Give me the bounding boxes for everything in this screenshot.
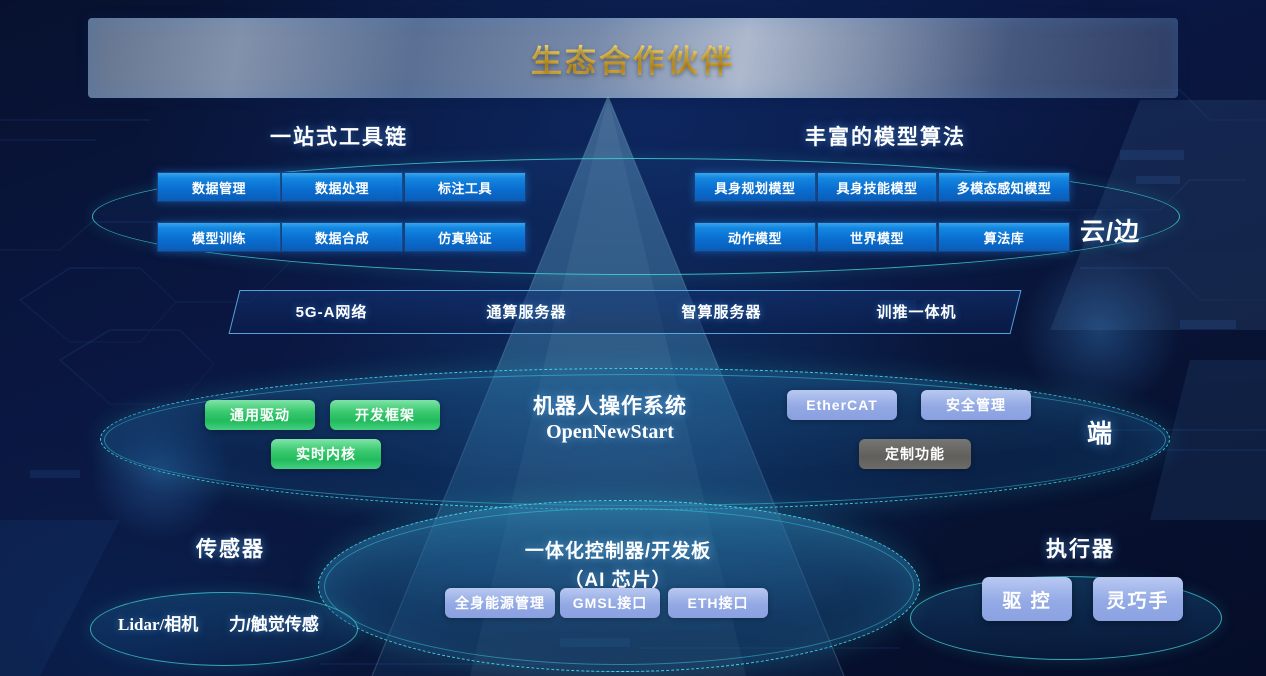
sensors-heading: 传感器 (196, 533, 265, 563)
actuators-heading: 执行器 (1046, 533, 1115, 563)
chip-model-1[interactable]: 具身规划模型 (694, 172, 816, 202)
chip-controller-1[interactable]: 全身能源管理 (445, 588, 555, 618)
models-heading: 丰富的模型算法 (805, 121, 966, 151)
chip-toolchain-6[interactable]: 仿真验证 (404, 222, 526, 252)
cloud-edge-label: 云/边 (1080, 212, 1140, 248)
infra-item-2[interactable]: 通算服务器 (429, 301, 624, 322)
edge-label: 端 (1087, 414, 1113, 450)
sensor-item-1[interactable]: Lidar/相机 (118, 610, 198, 635)
chip-model-6[interactable]: 算法库 (938, 222, 1070, 252)
chip-model-4[interactable]: 动作模型 (694, 222, 816, 252)
chip-actuator-1[interactable]: 驱 控 (982, 577, 1072, 621)
chip-toolchain-1[interactable]: 数据管理 (157, 172, 281, 202)
chip-model-2[interactable]: 具身技能模型 (817, 172, 937, 202)
banner-title: 生态合作伙伴 (531, 36, 735, 81)
os-title-block: 机器人操作系统 OpenNewStart (470, 390, 750, 444)
chip-controller-3[interactable]: ETH接口 (668, 588, 768, 618)
os-title-en: OpenNewStart (470, 421, 750, 444)
controller-title-block: 一体化控制器/开发板 （AI 芯片） (418, 536, 818, 592)
chip-toolchain-3[interactable]: 标注工具 (404, 172, 526, 202)
infra-item-4[interactable]: 训推一体机 (819, 301, 1014, 322)
chip-toolchain-4[interactable]: 模型训练 (157, 222, 281, 252)
infra-item-1[interactable]: 5G-A网络 (234, 301, 429, 322)
chip-model-5[interactable]: 世界模型 (817, 222, 937, 252)
chip-controller-2[interactable]: GMSL接口 (560, 588, 660, 618)
architecture-diagram: 生态合作伙伴 一站式工具链 丰富的模型算法 数据管理 数据处理 标注工具 模型训… (0, 0, 1266, 676)
sensor-item-2[interactable]: 力/触觉传感 (229, 610, 319, 635)
controller-title-line1: 一体化控制器/开发板 (418, 536, 818, 563)
os-title-cn: 机器人操作系统 (470, 390, 750, 420)
chip-os-safety[interactable]: 安全管理 (921, 390, 1031, 420)
infra-item-3[interactable]: 智算服务器 (624, 301, 819, 322)
chip-toolchain-5[interactable]: 数据合成 (281, 222, 403, 252)
chip-os-custom[interactable]: 定制功能 (859, 439, 971, 469)
chip-os-green-1[interactable]: 通用驱动 (205, 400, 315, 430)
ecosystem-partner-banner: 生态合作伙伴 (88, 18, 1178, 98)
chip-os-green-2[interactable]: 开发框架 (330, 400, 440, 430)
chip-actuator-2[interactable]: 灵巧手 (1093, 577, 1183, 621)
chip-os-ethercat[interactable]: EtherCAT (787, 390, 897, 420)
toolchain-heading: 一站式工具链 (270, 121, 408, 151)
infrastructure-items: 5G-A网络 通算服务器 智算服务器 训推一体机 (234, 290, 1014, 332)
chip-toolchain-2[interactable]: 数据处理 (281, 172, 403, 202)
chip-model-3[interactable]: 多模态感知模型 (938, 172, 1070, 202)
chip-os-green-3[interactable]: 实时内核 (271, 439, 381, 469)
